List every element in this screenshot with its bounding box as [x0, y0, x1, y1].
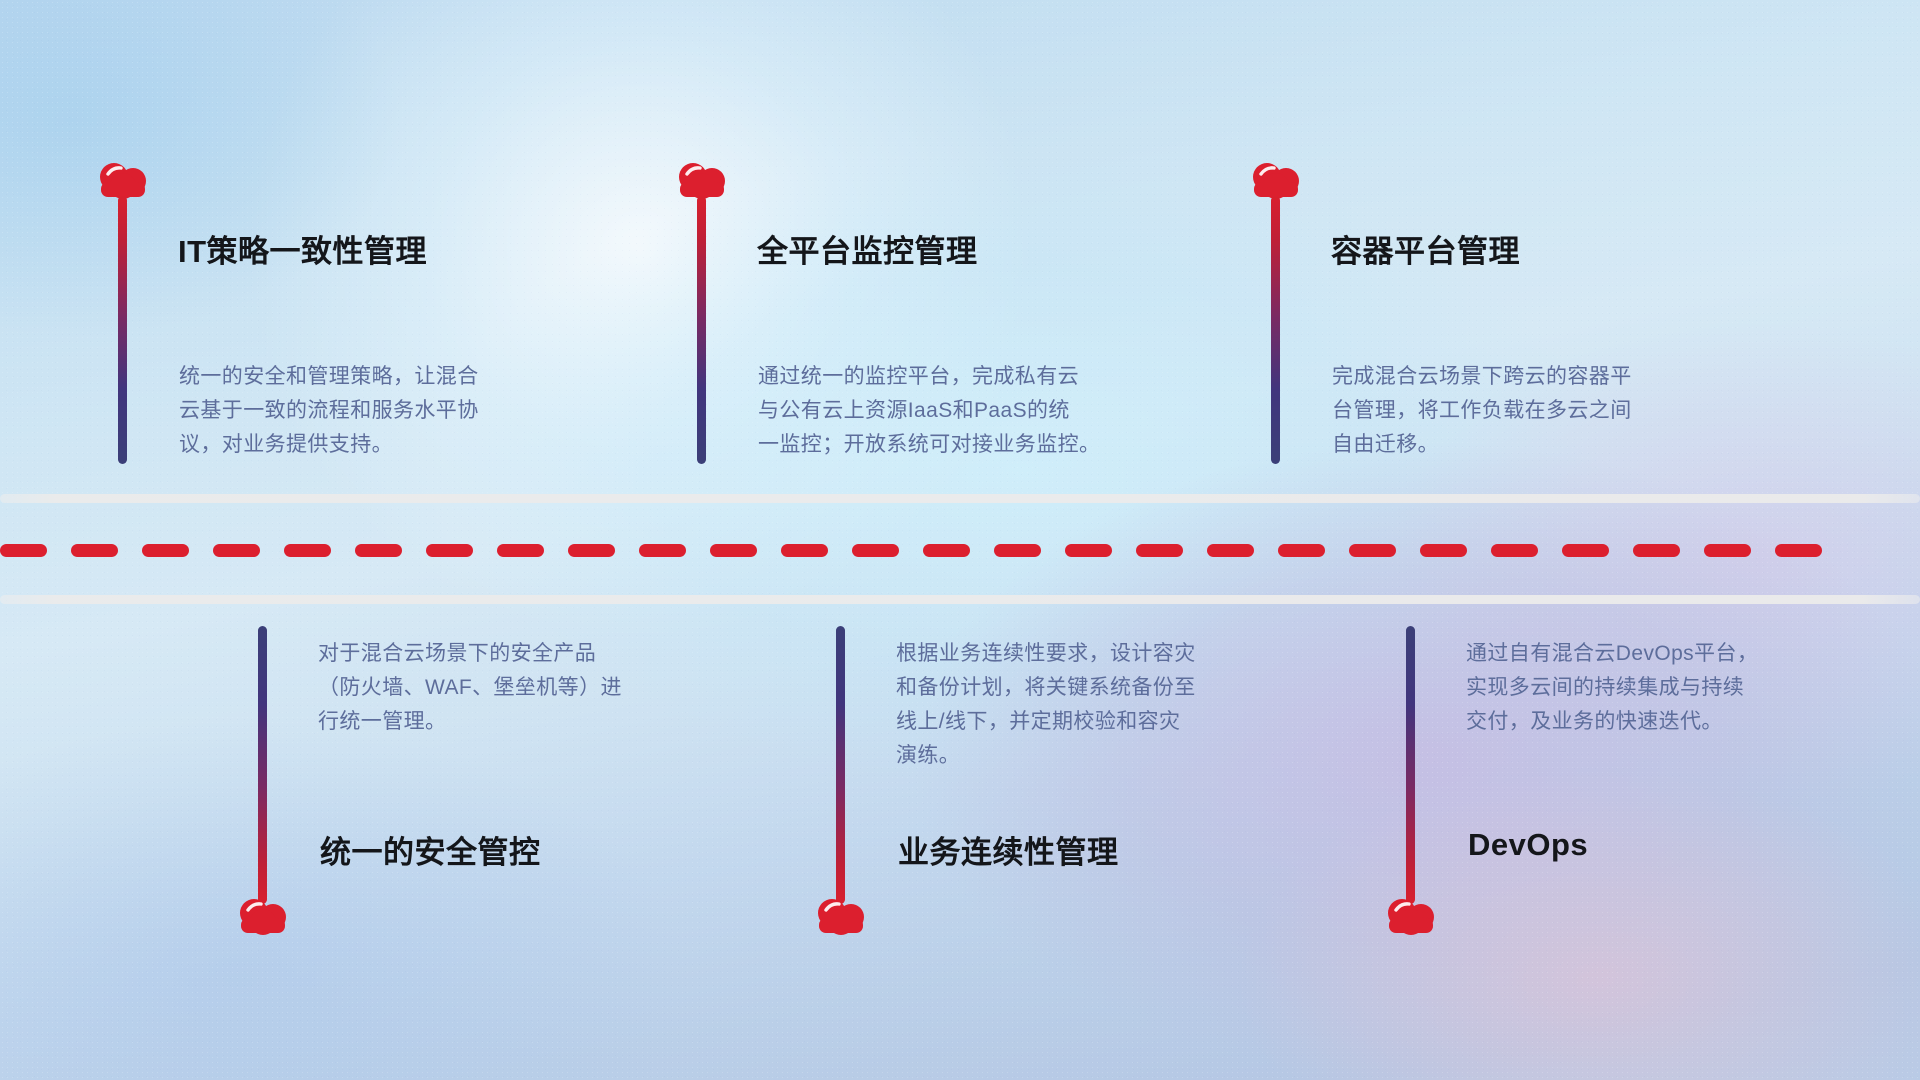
road-dash [71, 544, 118, 557]
item-heading: 业务连续性管理 [898, 827, 1119, 872]
road-dash [852, 544, 899, 557]
connector-stem [836, 626, 845, 904]
road-dash [284, 544, 331, 557]
cloud-icon [234, 896, 292, 936]
road-dash [710, 544, 757, 557]
road-line-upper [0, 494, 1920, 503]
item-heading: DevOps [1468, 827, 1588, 863]
road-dash [1704, 544, 1751, 557]
item-body: 完成混合云场景下跨云的容器平 台管理，将工作负载在多云之间 自由迁移。 [1332, 360, 1772, 462]
item-heading: 容器平台管理 [1331, 226, 1520, 271]
road-dash [1065, 544, 1112, 557]
road-dash [994, 544, 1041, 557]
item-heading: IT策略一致性管理 [178, 226, 427, 271]
cloud-icon [94, 160, 152, 200]
road-dash [1491, 544, 1538, 557]
road-dash [1633, 544, 1680, 557]
connector-stem [118, 196, 127, 464]
road-dash [0, 544, 47, 557]
infographic-canvas: IT策略一致性管理 统一的安全和管理策略，让混合 云基于一致的流程和服务水平协 … [0, 0, 1920, 1080]
connector-stem [258, 626, 267, 904]
road-dash [355, 544, 402, 557]
road-dash [781, 544, 828, 557]
road-dash [142, 544, 189, 557]
road-dash [923, 544, 970, 557]
road-dash [639, 544, 686, 557]
road-dash [497, 544, 544, 557]
connector-stem [697, 196, 706, 464]
connector-stem [1271, 196, 1280, 464]
cloud-icon [812, 896, 870, 936]
road-dash [568, 544, 615, 557]
cloud-icon [1247, 160, 1305, 200]
item-body: 通过自有混合云DevOps平台， 实现多云间的持续集成与持续 交付，及业务的快速… [1466, 637, 1896, 739]
item-heading: 全平台监控管理 [757, 226, 978, 271]
road-dashed-center-line [0, 543, 1920, 557]
road-dash [1562, 544, 1609, 557]
road-dash [1207, 544, 1254, 557]
item-body: 通过统一的监控平台，完成私有云 与公有云上资源IaaS和PaaS的统 一监控；开… [758, 360, 1208, 462]
item-body: 对于混合云场景下的安全产品 （防火墙、WAF、堡垒机等）进 行统一管理。 [318, 637, 748, 739]
cloud-icon [673, 160, 731, 200]
road-dash [1775, 544, 1822, 557]
road-dash [426, 544, 473, 557]
road-line-lower [0, 595, 1920, 604]
road-dash [1136, 544, 1183, 557]
road-dash [1349, 544, 1396, 557]
cloud-icon [1382, 896, 1440, 936]
road-dash [213, 544, 260, 557]
item-body: 根据业务连续性要求，设计容灾 和备份计划，将关键系统备份至 线上/线下，并定期校… [896, 637, 1326, 773]
item-body: 统一的安全和管理策略，让混合 云基于一致的流程和服务水平协 议，对业务提供支持。 [179, 360, 609, 462]
item-heading: 统一的安全管控 [320, 827, 541, 872]
connector-stem [1406, 626, 1415, 904]
road-dash [1278, 544, 1325, 557]
road-dash [1420, 544, 1467, 557]
